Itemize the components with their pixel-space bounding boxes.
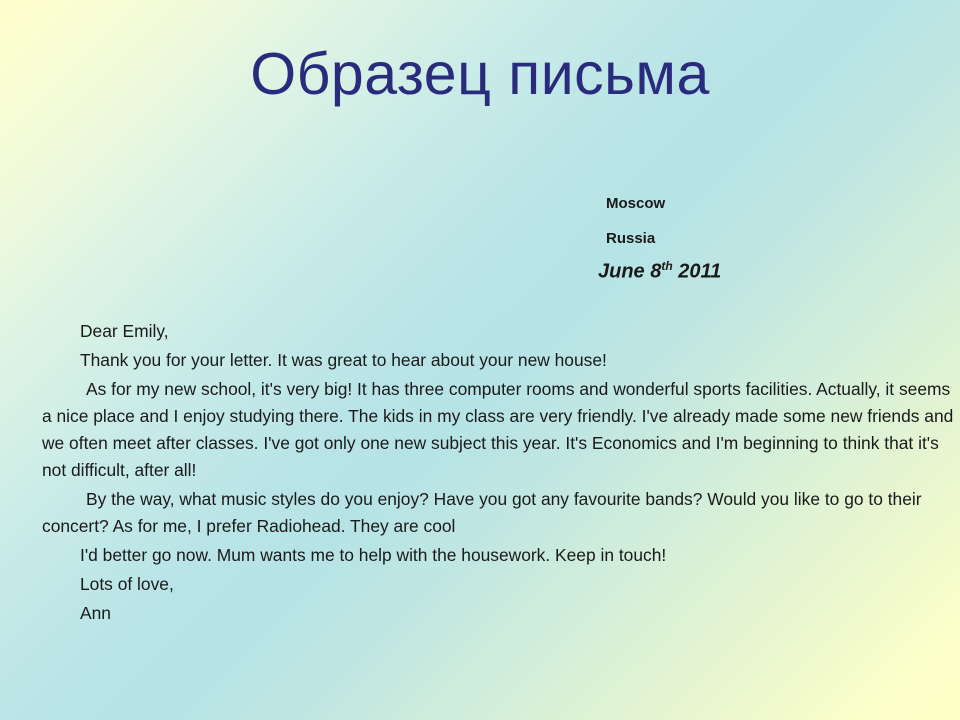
address-city: Moscow xyxy=(606,196,926,211)
letter-salutation: Dear Emily, xyxy=(42,318,954,345)
letter-signature: Ann xyxy=(42,600,954,627)
date-month-day: June 8 xyxy=(598,261,661,283)
letter-signoff: Lots of love, xyxy=(42,571,954,598)
address-date-block: Moscow Russia June 8th 2011 xyxy=(606,196,926,282)
date-ordinal-suffix: th xyxy=(661,259,672,273)
address-country: Russia xyxy=(606,231,926,246)
page-title: Образец письма xyxy=(0,44,960,106)
date-year: 2011 xyxy=(678,261,721,283)
letter-body: Dear Emily, Thank you for your letter. I… xyxy=(42,318,954,629)
letter-date: June 8th 2011 xyxy=(598,260,926,282)
letter-paragraph-1: As for my new school, it's very big! It … xyxy=(42,376,954,484)
letter-closing-line: I'd better go now. Mum wants me to help … xyxy=(42,542,954,569)
slide-canvas: Образец письма Moscow Russia June 8th 20… xyxy=(0,0,960,720)
letter-thanks-line: Thank you for your letter. It was great … xyxy=(42,347,954,374)
letter-paragraph-2: By the way, what music styles do you enj… xyxy=(42,486,954,540)
